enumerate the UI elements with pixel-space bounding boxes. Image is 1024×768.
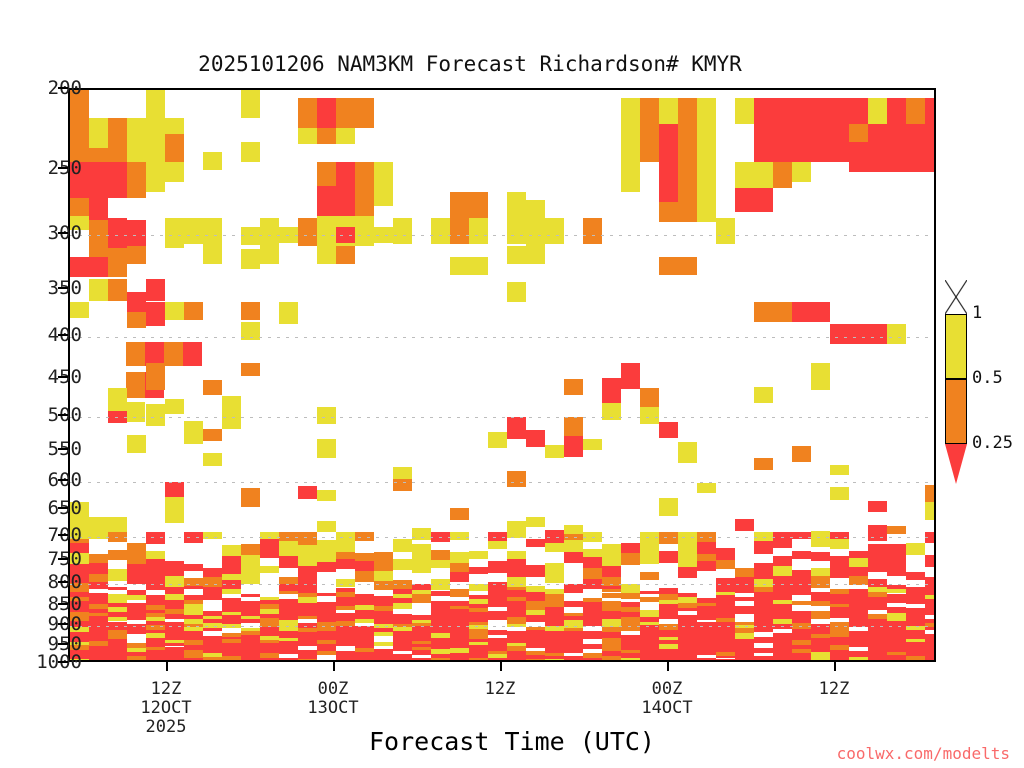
y-axis-tick-label: 600 (22, 469, 82, 491)
heatmap-cell (716, 218, 735, 244)
heatmap-cell (925, 502, 936, 519)
heatmap-cell (583, 658, 602, 662)
heatmap-cell (146, 90, 165, 118)
heatmap-cell (868, 501, 887, 512)
x-axis-tick-label: 00Z13OCT (307, 680, 358, 718)
heatmap-cell (165, 482, 184, 497)
heatmap-cell (621, 658, 640, 662)
heatmap-cell (735, 597, 754, 601)
heatmap-cell (355, 571, 374, 582)
x-tick-date: 13OCT (307, 699, 358, 718)
heatmap-cell (583, 557, 602, 568)
heatmap-cell (526, 618, 545, 621)
heatmap-cell (830, 124, 849, 162)
heatmap-cell (126, 402, 145, 422)
heatmap-cell (488, 614, 507, 619)
heatmap-cell (203, 628, 222, 631)
heatmap-cell (127, 661, 146, 662)
y-axis-tick-mark (58, 623, 68, 625)
heatmap-cell (697, 98, 716, 124)
heatmap-cell (564, 525, 583, 534)
y-axis-tick-label: 500 (22, 404, 82, 426)
heatmap-cell (336, 552, 355, 560)
heatmap-cell (355, 553, 374, 561)
heatmap-cell (849, 124, 868, 142)
heatmap-cell (488, 561, 507, 573)
heatmap-cell (868, 557, 887, 565)
heatmap-cell (469, 218, 488, 244)
heatmap-cell (165, 218, 184, 248)
heatmap-cell (336, 606, 355, 610)
heatmap-cell (735, 162, 754, 188)
heatmap-cell (203, 577, 222, 587)
heatmap-cell (164, 342, 183, 366)
heatmap-cell (488, 541, 507, 549)
heatmap-cell (830, 532, 849, 540)
heatmap-cell (488, 658, 507, 662)
heatmap-cell (89, 554, 108, 563)
gridline (70, 417, 934, 418)
heatmap-cell (336, 579, 355, 588)
heatmap-cell (925, 485, 936, 502)
heatmap-cell (507, 559, 526, 569)
heatmap-cell (640, 542, 659, 554)
heatmap-cell (184, 564, 203, 571)
heatmap-cell (146, 192, 165, 216)
heatmap-cell (412, 553, 431, 564)
heatmap-cell (469, 567, 488, 574)
gridline (70, 537, 934, 538)
heatmap-cell (260, 242, 279, 264)
y-axis-tick-label: 850 (22, 593, 82, 615)
heatmap-cell (317, 186, 336, 216)
heatmap-cell (640, 388, 659, 407)
heatmap-cell (602, 378, 621, 403)
heatmap-cell (849, 567, 868, 576)
heatmap-cell (127, 543, 146, 555)
heatmap-cell (203, 429, 222, 441)
heatmap-cell (184, 302, 203, 320)
heatmap-cell (735, 98, 754, 124)
y-axis-tick-label: 800 (22, 571, 82, 593)
heatmap-cell (830, 556, 849, 566)
heatmap-cell (89, 629, 108, 633)
heatmap-cell (906, 572, 925, 579)
heatmap-cell (602, 660, 621, 662)
heatmap-cell (811, 531, 830, 547)
x-tick-time: 12Z (485, 680, 516, 699)
heatmap-cell (545, 218, 564, 244)
y-axis-tick-label: 450 (22, 366, 82, 388)
heatmap-cell (659, 98, 678, 124)
heatmap-cell (697, 162, 716, 222)
heatmap-cell (868, 324, 887, 344)
heatmap-cell (887, 658, 906, 661)
heatmap-cell (716, 560, 735, 569)
y-axis-tick-label: 700 (22, 524, 82, 546)
heatmap-cell (336, 98, 355, 128)
x-tick-time: 00Z (641, 680, 692, 699)
heatmap-cell (298, 486, 317, 499)
heatmap-cell (146, 551, 165, 558)
heatmap-cell (203, 152, 222, 170)
plot-area (68, 88, 936, 662)
heatmap-cell (127, 615, 146, 620)
y-axis-tick-label: 650 (22, 497, 82, 519)
heatmap-cell (165, 561, 184, 569)
heatmap-cell (412, 658, 431, 662)
heatmap-cell (925, 124, 936, 172)
heatmap-cell (659, 422, 678, 438)
x-axis-tick-label: 12Z (485, 680, 516, 699)
heatmap-cell (678, 162, 697, 222)
heatmap-cell (450, 257, 469, 275)
colorbar-legend: 10.50.25 (945, 314, 967, 444)
heatmap-cell (887, 599, 906, 604)
heatmap-cell (70, 302, 89, 318)
heatmap-cell (773, 576, 792, 584)
heatmap-cells (70, 90, 934, 660)
heatmap-cell (412, 650, 431, 655)
heatmap-cell (127, 292, 146, 312)
heatmap-cell (374, 657, 393, 661)
heatmap-cell (146, 569, 165, 577)
colorbar-tick-label: 0.25 (972, 433, 1013, 453)
heatmap-cell (773, 584, 792, 594)
heatmap-cell (526, 430, 545, 447)
heatmap-cell (868, 525, 887, 541)
heatmap-cell (868, 659, 887, 662)
heatmap-cell (887, 569, 906, 577)
heatmap-cell (184, 194, 203, 216)
x-tick-date: 14OCT (641, 699, 692, 718)
y-axis-tick-mark (58, 581, 68, 583)
heatmap-cell (165, 118, 184, 134)
heatmap-cell (146, 279, 165, 301)
heatmap-cell (735, 568, 754, 578)
heatmap-cell (868, 544, 887, 556)
heatmap-cell (830, 324, 849, 344)
heatmap-cell (203, 242, 222, 264)
y-axis-tick-mark (58, 376, 68, 378)
heatmap-cell (412, 564, 431, 572)
heatmap-cell (640, 98, 659, 124)
heatmap-cell (241, 561, 260, 572)
heatmap-cell (336, 540, 355, 551)
heatmap-cell (621, 162, 640, 192)
heatmap-cell (792, 162, 811, 182)
heatmap-cell (830, 614, 849, 618)
heatmap-cell (279, 651, 298, 654)
heatmap-cell (241, 572, 260, 584)
heatmap-cell (298, 98, 317, 128)
heatmap-cell (222, 589, 241, 595)
x-axis-tick-mark (333, 662, 335, 671)
heatmap-cell (754, 188, 773, 212)
heatmap-cell (89, 563, 108, 574)
heatmap-cell (127, 564, 146, 575)
heatmap-cell (108, 550, 127, 560)
heatmap-cell (165, 302, 184, 320)
heatmap-cell (450, 563, 469, 573)
heatmap-cell (127, 198, 146, 220)
heatmap-cell (488, 630, 507, 634)
heatmap-cell (241, 594, 260, 598)
heatmap-cell (716, 659, 735, 663)
heatmap-cell (773, 661, 792, 662)
heatmap-cell (222, 411, 241, 429)
heatmap-cell (393, 539, 412, 552)
y-axis-tick-mark (58, 334, 68, 336)
heatmap-cell (108, 569, 127, 581)
heatmap-cell (887, 124, 906, 172)
heatmap-cell (754, 302, 773, 322)
heatmap-cell (678, 658, 697, 662)
heatmap-cell (925, 657, 936, 661)
y-axis-tick-label: 750 (22, 548, 82, 570)
heatmap-cell (754, 629, 773, 632)
heatmap-cell (222, 660, 241, 662)
heatmap-cell (89, 574, 108, 582)
heatmap-cell (355, 619, 374, 623)
heatmap-cell (469, 257, 488, 275)
heatmap-cell (830, 98, 849, 124)
heatmap-cell (165, 569, 184, 576)
heatmap-cell (602, 593, 621, 599)
heatmap-cell (697, 483, 716, 494)
heatmap-cell (849, 576, 868, 585)
heatmap-cell (260, 546, 279, 557)
heatmap-cell (450, 593, 469, 596)
heatmap-cell (374, 552, 393, 563)
heatmap-cell (165, 134, 184, 162)
heatmap-cell (507, 282, 526, 302)
heatmap-cell (811, 302, 830, 322)
x-tick-time: 12Z (819, 680, 850, 699)
heatmap-cell (126, 342, 145, 366)
heatmap-cell (298, 545, 317, 555)
heatmap-cell (564, 660, 583, 662)
heatmap-cell (564, 540, 583, 552)
heatmap-cell (526, 200, 545, 218)
heatmap-cell (659, 202, 678, 222)
heatmap-cell (108, 162, 127, 198)
heatmap-cell (279, 591, 298, 594)
heatmap-cell (317, 521, 336, 533)
heatmap-cell (184, 90, 203, 118)
heatmap-cell (545, 563, 564, 571)
heatmap-cell (564, 601, 583, 606)
heatmap-cell (393, 467, 412, 479)
colorbar-arrow-up-outline (945, 280, 967, 314)
heatmap-cell (583, 568, 602, 579)
heatmap-cell (108, 587, 127, 590)
heatmap-cell (811, 601, 830, 606)
heatmap-cell (507, 471, 526, 487)
heatmap-cell (469, 192, 488, 218)
heatmap-cell (108, 659, 127, 662)
heatmap-cell (640, 162, 659, 182)
heatmap-cell (830, 567, 849, 579)
heatmap-cell (279, 658, 298, 662)
heatmap-cell (583, 661, 602, 662)
y-axis-tick-mark (58, 558, 68, 560)
heatmap-cell (127, 656, 146, 660)
y-axis-tick-mark (58, 87, 68, 89)
heatmap-cell (526, 539, 545, 547)
heatmap-cell (317, 490, 336, 501)
heatmap-cell (792, 591, 811, 595)
heatmap-cell (317, 128, 336, 144)
heatmap-cell (374, 581, 393, 589)
heatmap-cell (89, 162, 108, 198)
heatmap-cell (545, 445, 564, 458)
heatmap-cell (241, 142, 260, 162)
heatmap-cell (811, 660, 830, 662)
heatmap-cell (89, 302, 108, 318)
heatmap-cell (412, 528, 431, 540)
heatmap-cell (811, 124, 830, 162)
heatmap-cell (355, 98, 374, 128)
heatmap-cell (469, 551, 488, 559)
heatmap-cell (279, 541, 298, 549)
heatmap-cell (336, 660, 355, 662)
heatmap-cell (621, 124, 640, 162)
heatmap-cell (697, 561, 716, 571)
heatmap-cell (564, 552, 583, 562)
heatmap-cell (70, 118, 89, 162)
heatmap-cell (222, 563, 241, 574)
heatmap-cell (336, 162, 355, 186)
heatmap-cell (450, 572, 469, 581)
heatmap-cell (697, 554, 716, 561)
heatmap-cell (887, 324, 906, 344)
heatmap-cell (298, 218, 317, 246)
heatmap-cell (621, 98, 640, 124)
heatmap-cell (317, 98, 336, 128)
heatmap-cell (507, 551, 526, 559)
heatmap-cell (336, 246, 355, 264)
heatmap-cell (640, 572, 659, 580)
y-axis-tick-mark (58, 167, 68, 169)
gridline (70, 337, 934, 338)
heatmap-cell (374, 563, 393, 571)
gridline (70, 584, 934, 585)
heatmap-cell (450, 661, 469, 662)
heatmap-cell (108, 388, 127, 411)
heatmap-cell (792, 660, 811, 662)
heatmap-cell (317, 216, 336, 246)
colorbar-tick-label: 0.5 (972, 368, 1003, 388)
y-axis-tick-mark (58, 448, 68, 450)
heatmap-cell (792, 302, 811, 322)
heatmap-cell (849, 661, 868, 662)
y-axis-tick-mark (58, 603, 68, 605)
heatmap-cell (697, 650, 716, 655)
heatmap-cell (412, 597, 431, 603)
heatmap-cell (336, 559, 355, 569)
x-axis-tick-mark (166, 662, 168, 671)
heatmap-cell (450, 508, 469, 520)
heatmap-cell (925, 611, 936, 615)
y-axis-tick-label: 200 (22, 77, 82, 99)
heatmap-cell (583, 549, 602, 557)
heatmap-cell (203, 568, 222, 578)
heatmap-cell (431, 591, 450, 596)
heatmap-cell (203, 218, 222, 244)
heatmap-cell (849, 558, 868, 566)
heatmap-cell (241, 227, 260, 245)
heatmap-cell (89, 279, 108, 301)
attribution-link[interactable]: coolwx.com/modelts (837, 744, 1010, 763)
heatmap-cell (887, 98, 906, 124)
heatmap-cell (697, 658, 716, 662)
y-axis-tick-label: 1000 (22, 651, 82, 673)
heatmap-cell (697, 124, 716, 162)
heatmap-cell (754, 387, 773, 403)
x-axis-tick-mark (667, 662, 669, 671)
heatmap-cell (754, 659, 773, 662)
heatmap-cell (431, 560, 450, 568)
heatmap-cell (127, 162, 146, 198)
page-title: 2025101206 NAM3KM Forecast Richardson# K… (0, 52, 940, 76)
heatmap-cell (127, 435, 146, 453)
heatmap-cell (678, 98, 697, 124)
heatmap-cell (811, 576, 830, 587)
heatmap-cell (146, 216, 165, 234)
heatmap-cell (792, 446, 811, 462)
heatmap-cell (640, 597, 659, 601)
heatmap-cell (773, 162, 792, 188)
heatmap-cell (811, 614, 830, 619)
heatmap-cell (241, 659, 260, 662)
heatmap-cell (317, 651, 336, 656)
heatmap-cell (241, 544, 260, 555)
heatmap-cell (773, 541, 792, 548)
heatmap-cell (108, 118, 127, 162)
heatmap-cell (393, 658, 412, 661)
heatmap-cell (659, 162, 678, 202)
heatmap-cell (868, 606, 887, 610)
y-axis-tick-label: 400 (22, 324, 82, 346)
heatmap-cell (146, 577, 165, 585)
heatmap-cell (925, 98, 936, 124)
heatmap-cell (507, 246, 526, 264)
heatmap-cell (241, 249, 260, 269)
heatmap-cell (830, 465, 849, 475)
heatmap-cell (450, 552, 469, 562)
heatmap-cell (108, 198, 127, 218)
heatmap-cell (374, 186, 393, 206)
heatmap-cell (849, 142, 868, 172)
heatmap-cell (925, 627, 936, 630)
heatmap-cell (89, 257, 108, 277)
heatmap-cell (127, 220, 146, 246)
heatmap-cell (678, 608, 697, 612)
heatmap-cell (526, 218, 545, 264)
heatmap-cell (811, 552, 830, 560)
heatmap-cell (792, 570, 811, 580)
heatmap-cell (564, 379, 583, 395)
heatmap-cell (298, 566, 317, 575)
heatmap-cell (526, 565, 545, 577)
heatmap-cell (146, 660, 165, 662)
heatmap-cell (526, 659, 545, 662)
heatmap-cell (165, 162, 184, 182)
heatmap-cell (773, 566, 792, 576)
heatmap-cell (640, 124, 659, 162)
heatmap-cell (602, 556, 621, 566)
